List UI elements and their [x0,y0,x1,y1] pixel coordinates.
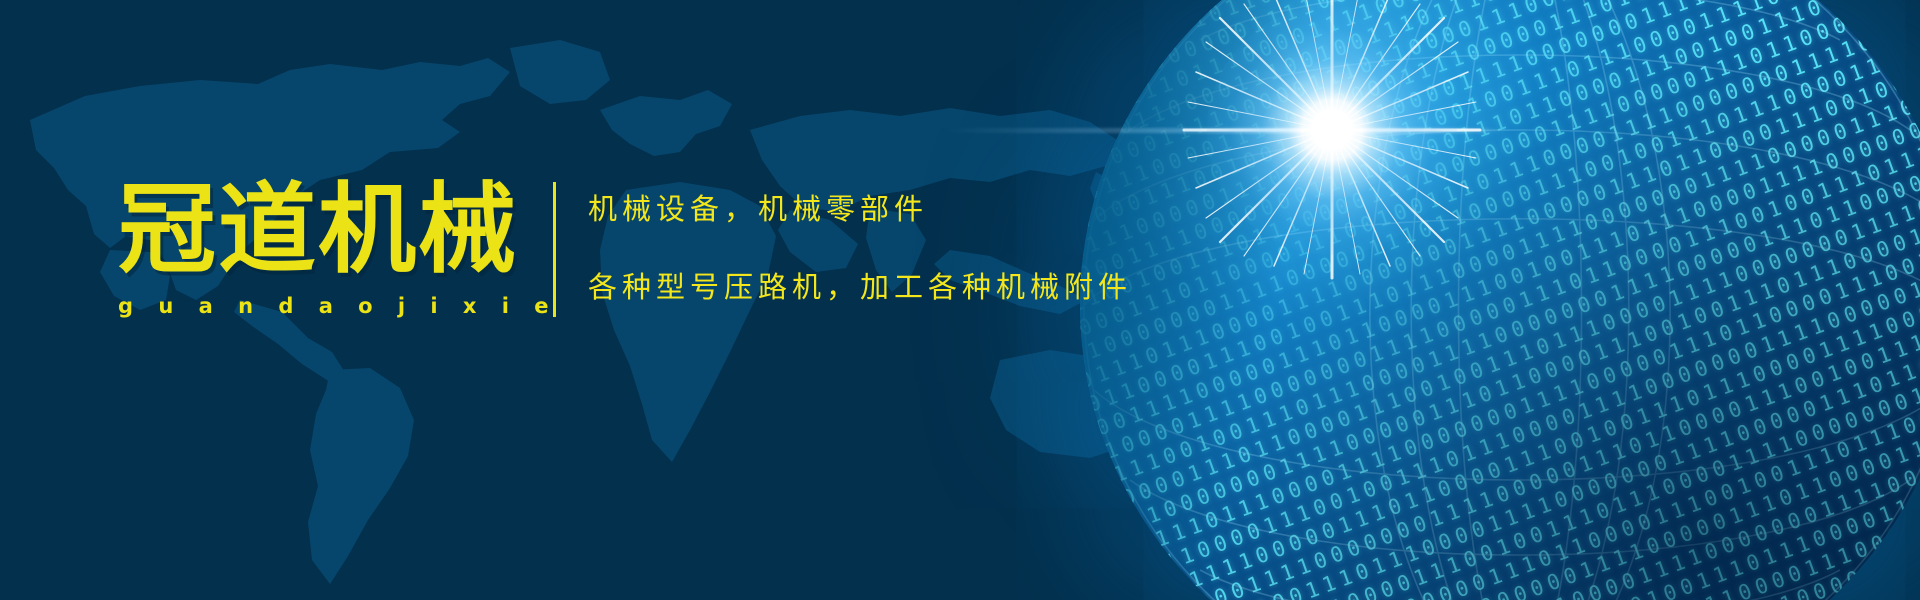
company-name-pinyin: g u a n d a o j i x i e [118,294,538,318]
slogan-block: 机械设备，机械零部件 各种型号压路机，加工各种机械附件 [588,192,1308,304]
banner-content: 冠道机械 g u a n d a o j i x i e 机械设备，机械零部件 … [0,0,1920,600]
hero-banner: 0111100000001111000001110110000111001001… [0,0,1920,600]
company-name-cn: 冠道机械 [118,178,538,282]
slogan-line-2: 各种型号压路机，加工各种机械附件 [588,270,1308,304]
company-logo: 冠道机械 g u a n d a o j i x i e [118,178,538,318]
slogan-line-1: 机械设备，机械零部件 [588,192,1308,226]
vertical-divider [553,182,556,317]
